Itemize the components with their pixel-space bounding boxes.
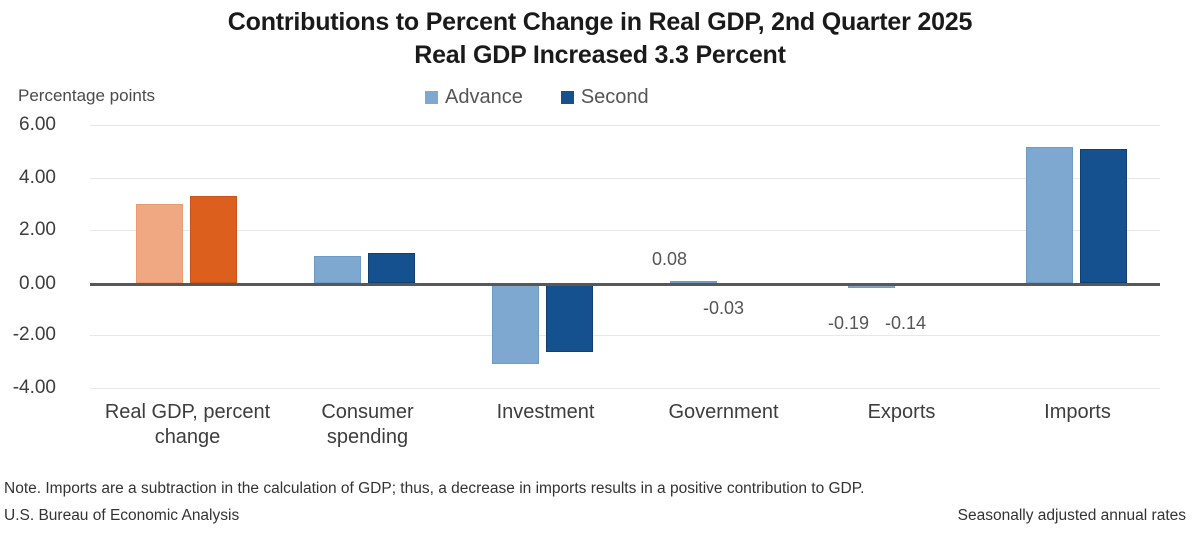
gridline (90, 335, 1160, 336)
cat-real-gdp[interactable]: Real GDP, percentchange (100, 400, 275, 450)
legend-advance[interactable]: Advance (425, 86, 523, 109)
footer-source: U.S. Bureau of Economic Analysis (4, 507, 239, 525)
footer: Note. Imports are a subtraction in the c… (4, 480, 1196, 525)
cat-exports-line-1: Exports (814, 400, 989, 425)
y-axis-tick-4neg00: 4.00 (0, 167, 56, 189)
y-axis-caption: Percentage points (18, 86, 155, 106)
footer-note: Note. Imports are a subtraction in the c… (4, 480, 1196, 498)
value-label-exports-advance: -0.19 (828, 313, 869, 334)
x-axis-category-labels: Real GDP, percentchangeConsumerspendingI… (90, 400, 1160, 462)
cat-real-gdp-line-2: change (100, 425, 275, 450)
bar-consumer-second[interactable] (368, 253, 415, 283)
chart-title-line-1: Contributions to Percent Change in Real … (0, 6, 1200, 39)
cat-consumer-line-1: Consumer (280, 400, 455, 425)
y-axis-tick-neg4-00: -4.00 (0, 377, 56, 399)
legend-advance-label: Advance (445, 86, 523, 109)
cat-investment[interactable]: Investment (458, 400, 633, 425)
y-axis-tick-2neg00: 2.00 (0, 219, 56, 241)
legend-second[interactable]: Second (561, 86, 649, 109)
bar-imports-advance[interactable] (1026, 147, 1073, 282)
chart-title-line-2: Real GDP Increased 3.3 Percent (0, 39, 1200, 72)
gridline (90, 388, 1160, 389)
bar-consumer-advance[interactable] (314, 256, 361, 283)
legend-second-swatch-icon (561, 91, 574, 104)
bar-investment-second[interactable] (546, 283, 593, 353)
bar-imports-second[interactable] (1080, 149, 1127, 283)
gridline (90, 125, 1160, 126)
value-label-government-second: -0.03 (703, 298, 744, 319)
bar-real-gdp-advance[interactable] (136, 204, 183, 283)
footer-source-row: U.S. Bureau of Economic Analysis Seasona… (4, 507, 1196, 525)
legend-advance-swatch-icon (425, 91, 438, 104)
cat-consumer[interactable]: Consumerspending (280, 400, 455, 450)
footer-rates: Seasonally adjusted annual rates (958, 507, 1186, 525)
cat-imports[interactable]: Imports (990, 400, 1165, 425)
y-axis-tick-neg2-00: -2.00 (0, 324, 56, 346)
bar-investment-advance[interactable] (492, 283, 539, 365)
cat-real-gdp-line-1: Real GDP, percent (100, 400, 275, 425)
plot-area: 6.004.002.000.00-2.00-4.000.08-0.03-0.19… (90, 125, 1160, 388)
bar-real-gdp-second[interactable] (190, 196, 237, 283)
cat-government[interactable]: Government (636, 400, 811, 425)
y-axis-tick-6neg00: 6.00 (0, 114, 56, 136)
cat-consumer-line-2: spending (280, 425, 455, 450)
y-axis-tick-0neg00: 0.00 (0, 273, 56, 295)
value-label-government-advance: 0.08 (652, 249, 687, 270)
cat-investment-line-1: Investment (458, 400, 633, 425)
cat-imports-line-1: Imports (990, 400, 1165, 425)
legend-second-label: Second (581, 86, 649, 109)
gridline (90, 178, 1160, 179)
title-block: Contributions to Percent Change in Real … (0, 6, 1200, 72)
cat-exports[interactable]: Exports (814, 400, 989, 425)
chart-legend: AdvanceSecond (425, 86, 649, 109)
value-label-exports-second: -0.14 (885, 313, 926, 334)
zero-axis-line (90, 283, 1160, 286)
gridline (90, 230, 1160, 231)
cat-government-line-1: Government (636, 400, 811, 425)
